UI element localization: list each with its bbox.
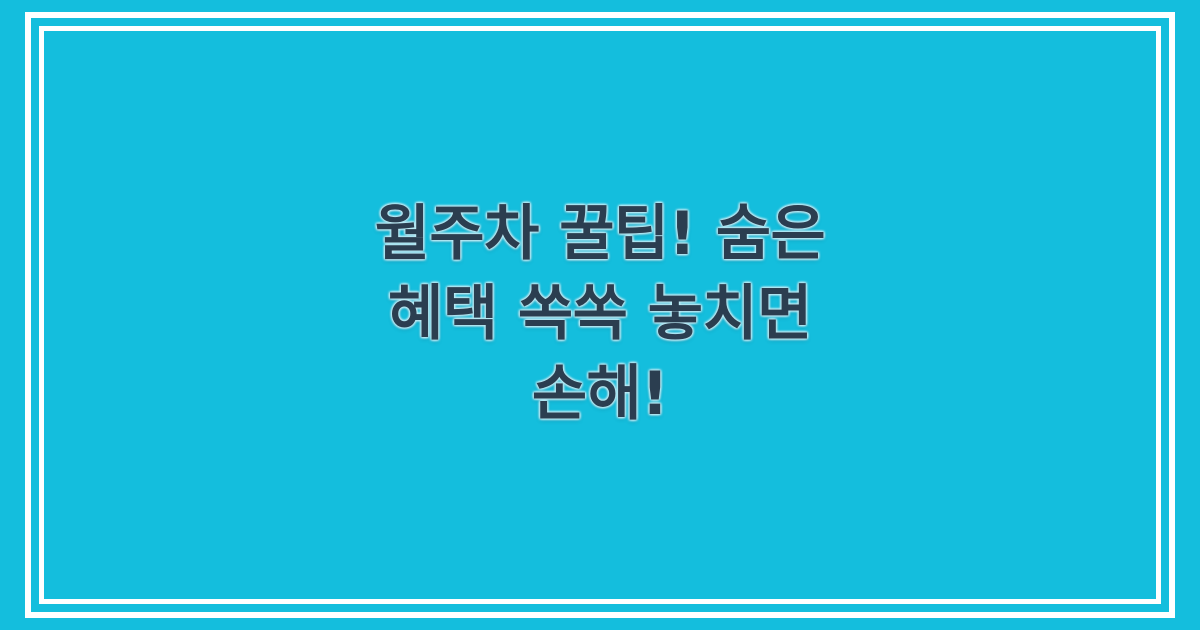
page-title: 월주차 꿀팁! 숨은 혜택 쏙쏙 놓치면 손해! (375, 195, 826, 434)
headline-line-1: 월주차 꿀팁! 숨은 (375, 195, 826, 275)
headline-container: 월주차 꿀팁! 숨은 혜택 쏙쏙 놓치면 손해! (0, 0, 1200, 630)
headline-line-3: 손해! (375, 355, 826, 435)
headline-line-2: 혜택 쏙쏙 놓치면 (375, 275, 826, 355)
thumbnail-card: 월주차 꿀팁! 숨은 혜택 쏙쏙 놓치면 손해! (0, 0, 1200, 630)
